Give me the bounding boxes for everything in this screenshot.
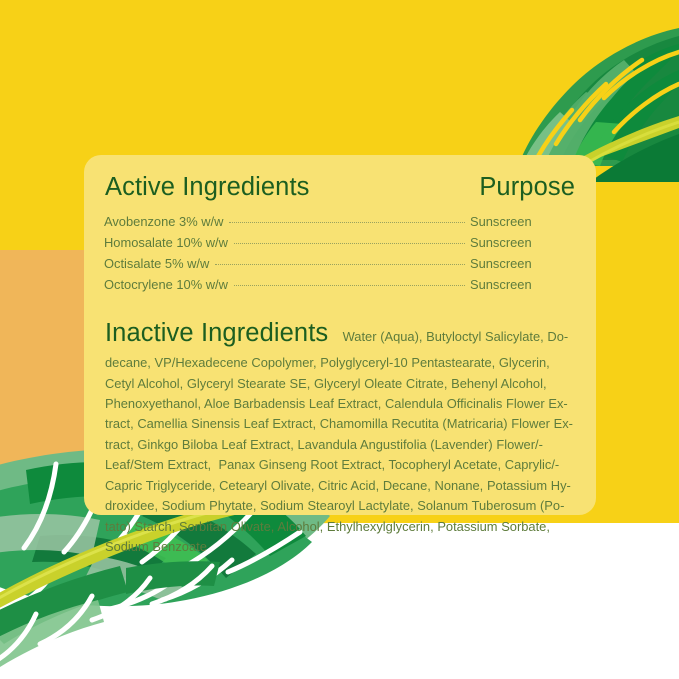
- ingredient-name: Octocrylene 10% w/w: [104, 275, 228, 296]
- active-ingredients-title: Active Ingredients: [105, 173, 310, 201]
- title-spacer: [328, 319, 342, 347]
- inactive-ingredients-block: Inactive Ingredients Water (Aqua), Butyl…: [104, 313, 576, 558]
- dotted-leader: [234, 285, 465, 286]
- poster-canvas: Active Ingredients Purpose Avobenzone 3%…: [0, 0, 679, 679]
- ingredient-purpose: Sunscreen: [470, 275, 576, 296]
- ingredient-row: Avobenzone 3% w/w Sunscreen: [104, 212, 576, 233]
- ingredient-purpose: Sunscreen: [470, 212, 576, 233]
- ingredient-purpose: Sunscreen: [470, 254, 576, 275]
- inactive-ingredients-text: Water (Aqua), Butyloctyl Salicylate, Do-…: [105, 329, 573, 554]
- inactive-ingredients-title: Inactive Ingredients: [105, 319, 328, 347]
- inactive-ingredients-paragraph: Inactive Ingredients Water (Aqua), Butyl…: [105, 313, 575, 558]
- ingredient-name: Octisalate 5% w/w: [104, 254, 209, 275]
- ingredient-purpose: Sunscreen: [470, 233, 576, 254]
- dotted-leader: [234, 243, 465, 244]
- purpose-column-header: Purpose: [479, 173, 575, 201]
- active-ingredients-list: Avobenzone 3% w/w Sunscreen Homosalate 1…: [104, 212, 576, 296]
- dotted-leader: [215, 264, 465, 265]
- ingredient-row: Homosalate 10% w/w Sunscreen: [104, 233, 576, 254]
- ingredient-row: Octocrylene 10% w/w Sunscreen: [104, 275, 576, 296]
- ingredients-card: Active Ingredients Purpose Avobenzone 3%…: [84, 155, 596, 515]
- ingredient-row: Octisalate 5% w/w Sunscreen: [104, 254, 576, 275]
- ingredient-name: Avobenzone 3% w/w: [104, 212, 223, 233]
- dotted-leader: [229, 222, 465, 223]
- active-ingredients-header: Active Ingredients Purpose: [104, 173, 576, 201]
- ingredient-name: Homosalate 10% w/w: [104, 233, 228, 254]
